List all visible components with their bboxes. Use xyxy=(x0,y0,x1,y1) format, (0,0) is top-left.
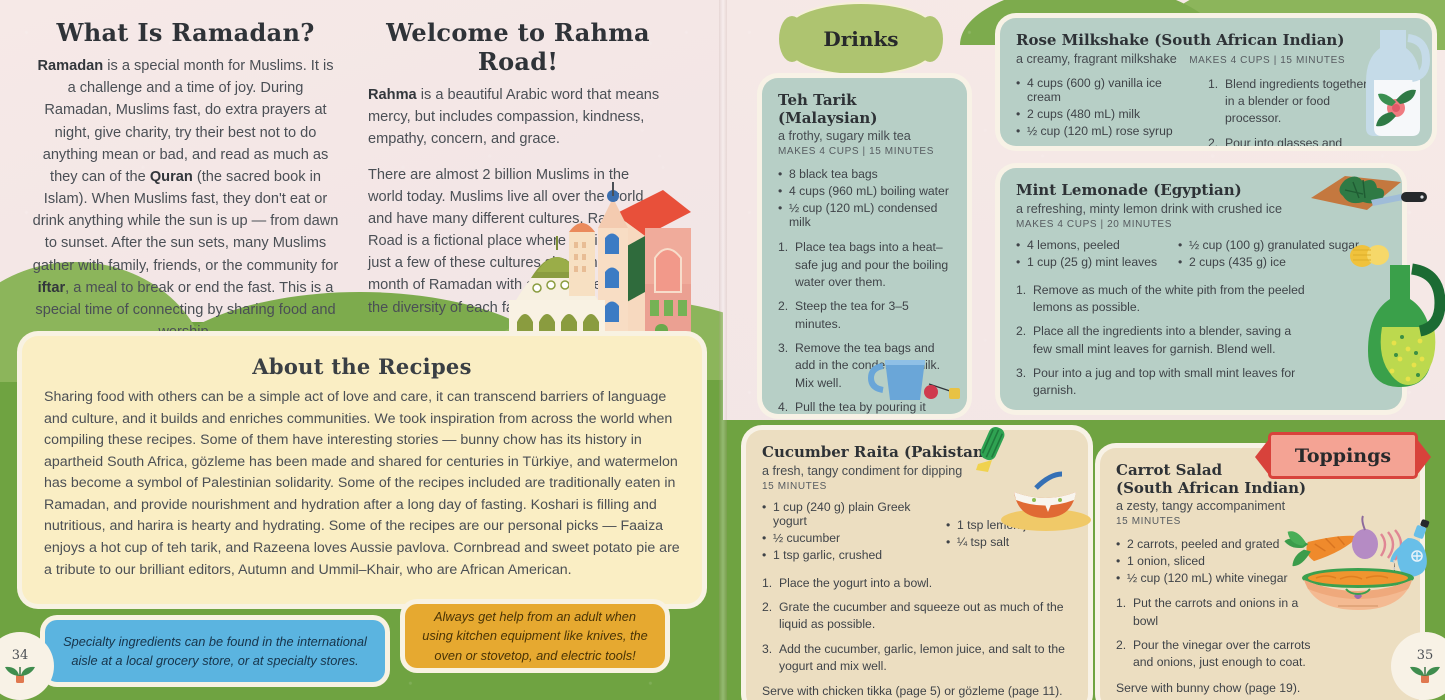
page-number-value: 34 xyxy=(12,648,29,663)
ingredient-item: ½ cucumber xyxy=(762,531,934,545)
ingredient-item: ½ cup (120 mL) rose syrup xyxy=(1016,124,1196,138)
page-number-value: 35 xyxy=(1417,648,1434,663)
recipe-title: Rose Milkshake (South African Indian) xyxy=(1016,32,1416,50)
sprout-icon xyxy=(3,663,37,685)
ingredient-list: 8 black tea bags 4 cups (960 mL) boiling… xyxy=(778,167,951,229)
step-item: Place the yogurt into a bowl. xyxy=(762,575,1072,592)
ingredient-list: 4 cups (600 g) vanilla ice cream 2 cups … xyxy=(1016,76,1196,146)
recipe-subtitle: a creamy, fragrant milkshake xyxy=(1016,52,1177,66)
recipe-serve-note: Serve with bunny chow (page 19). xyxy=(1116,680,1404,698)
column-what-is-ramadan: What Is Ramadan? Ramadan is a special mo… xyxy=(32,18,339,343)
left-page: What Is Ramadan? Ramadan is a special mo… xyxy=(0,0,723,700)
ingredient-list-left: 4 lemons, peeled 1 cup (25 g) mint leave… xyxy=(1016,238,1166,272)
step-item: Pour into a jug and top with small mint … xyxy=(1016,365,1308,400)
ingredient-item: 1 onion, sliced xyxy=(1116,554,1306,568)
recipe-card-mint-lemonade: Mint Lemonade (Egyptian) a refreshing, m… xyxy=(1000,168,1402,410)
recipe-subtitle: a fresh, tangy condiment for dipping xyxy=(762,464,1072,478)
recipe-meta: MAKES 4 CUPS | 20 MINUTES xyxy=(1016,219,1386,230)
tip-specialty-ingredients: Specialty ingredients can be found in th… xyxy=(45,620,385,682)
step-item: Steep the tea for 3–5 minutes. xyxy=(778,298,951,333)
step-item: Add the cucumber, garlic, lemon juice, a… xyxy=(762,641,1072,676)
recipe-title: Cucumber Raita (Pakistani) xyxy=(762,444,1072,462)
recipe-tip-note: TIP: Best served soon after making. If t… xyxy=(1016,408,1312,410)
step-item: Remove as much of the white pith from th… xyxy=(1016,282,1308,317)
ingredient-item: ½ cup (100 g) granulated sugar xyxy=(1178,238,1386,252)
heading-welcome-rahma-road: Welcome to Rahma Road! xyxy=(368,18,668,76)
book-gutter xyxy=(719,0,727,700)
section-banner-label: Drinks xyxy=(823,27,898,51)
recipe-subtitle: a frothy, sugary milk tea xyxy=(778,129,951,143)
paragraph-ramadan: Ramadan is a special month for Muslims. … xyxy=(32,55,339,343)
ingredient-item: 1 cup (240 g) plain Greek yogurt xyxy=(762,500,934,528)
section-banner-toppings: Toppings xyxy=(1268,432,1418,479)
recipe-serve-note: Serve with chicken tikka (page 5) or göz… xyxy=(762,683,1072,700)
ingredient-item: 1 cup (25 g) mint leaves xyxy=(1016,255,1166,269)
ingredient-list: 2 carrots, peeled and grated 1 onion, sl… xyxy=(1116,537,1306,585)
ingredient-list-right: ½ cup (100 g) granulated sugar 2 cups (4… xyxy=(1178,238,1386,272)
ingredient-item: 2 carrots, peeled and grated xyxy=(1116,537,1306,551)
paragraph-rahma-meaning: Rahma is a beautiful Arabic word that me… xyxy=(368,84,668,151)
ingredient-item: 4 lemons, peeled xyxy=(1016,238,1166,252)
cookbook-spread: What Is Ramadan? Ramadan is a special mo… xyxy=(0,0,1445,700)
ingredient-item: 1 tsp garlic, crushed xyxy=(762,548,934,562)
ingredient-item: ½ cup (120 mL) condensed milk xyxy=(778,201,951,229)
heading-about-the-recipes: About the Recipes xyxy=(44,354,680,379)
tip-adult-help: Always get help from an adult when using… xyxy=(405,604,665,668)
ingredient-item: ½ cup (120 mL) white vinegar xyxy=(1116,571,1306,585)
about-the-recipes-panel: About the Recipes Sharing food with othe… xyxy=(22,336,702,604)
recipe-card-rose-milkshake: Rose Milkshake (South African Indian) a … xyxy=(1000,18,1432,146)
step-list: Place tea bags into a heat–safe jug and … xyxy=(778,239,951,414)
recipe-subtitle: a zesty, tangy accompaniment xyxy=(1116,499,1404,513)
ingredient-list-right: 1 tsp lemon juice ¼ tsp salt xyxy=(946,518,1072,565)
recipe-meta: 15 MINUTES xyxy=(1116,516,1404,527)
section-banner-drinks: Drinks xyxy=(793,8,929,70)
ingredient-item: 2 cups (435 g) ice xyxy=(1178,255,1386,269)
section-banner-label: Toppings xyxy=(1295,445,1391,467)
step-item: Blend ingredients together in a blender … xyxy=(1208,76,1378,128)
recipe-title: Teh Tarik (Malaysian) xyxy=(778,92,951,127)
ingredient-item: 4 cups (600 g) vanilla ice cream xyxy=(1016,76,1196,104)
step-list: Put the carrots and onions in a bowl Pou… xyxy=(1116,595,1326,671)
step-item: Remove the tea bags and add in the conde… xyxy=(778,340,951,392)
ingredient-item: ¼ tsp salt xyxy=(946,535,1072,549)
step-item: Pour into glasses and serve. xyxy=(1208,135,1378,146)
recipe-meta: 15 MINUTES xyxy=(762,481,1072,492)
step-item: Pull the tea by pouring it from one jug … xyxy=(778,399,951,414)
recipe-title: Mint Lemonade (Egyptian) xyxy=(1016,182,1386,200)
recipe-card-teh-tarik: Teh Tarik (Malaysian) a frothy, sugary m… xyxy=(762,78,967,414)
tip-text: Specialty ingredients can be found in th… xyxy=(61,632,369,670)
step-item: Grate the cucumber and squeeze out as mu… xyxy=(762,599,1072,634)
step-item: Place all the ingredients into a blender… xyxy=(1016,323,1308,358)
recipe-meta: MAKES 4 CUPS | 15 MINUTES xyxy=(778,146,951,157)
step-list: Blend ingredients together in a blender … xyxy=(1208,76,1378,146)
ingredient-item: 4 cups (960 mL) boiling water xyxy=(778,184,951,198)
heading-what-is-ramadan: What Is Ramadan? xyxy=(32,18,339,47)
ingredient-item: 2 cups (480 mL) milk xyxy=(1016,107,1196,121)
step-list: Place the yogurt into a bowl. Grate the … xyxy=(762,575,1072,676)
ingredient-item: 8 black tea bags xyxy=(778,167,951,181)
ingredient-item: 1 tsp lemon juice xyxy=(946,518,1072,532)
about-the-recipes-text: Sharing food with others can be a simple… xyxy=(44,387,680,581)
recipe-subtitle: a refreshing, minty lemon drink with cru… xyxy=(1016,202,1386,216)
ingredient-list-left: 1 cup (240 g) plain Greek yogurt ½ cucum… xyxy=(762,500,934,565)
recipe-meta: MAKES 4 CUPS | 15 MINUTES xyxy=(1189,55,1345,66)
step-list: Remove as much of the white pith from th… xyxy=(1016,282,1308,400)
sprout-icon xyxy=(1408,663,1442,685)
step-item: Place tea bags into a heat–safe jug and … xyxy=(778,239,951,291)
recipe-card-carrot-salad: Carrot Salad(South African Indian) a zes… xyxy=(1100,448,1420,700)
recipe-card-cucumber-raita: Cucumber Raita (Pakistani) a fresh, tang… xyxy=(746,430,1088,700)
step-item: Pour the vinegar over the carrots and on… xyxy=(1116,637,1326,672)
step-item: Put the carrots and onions in a bowl xyxy=(1116,595,1326,630)
tip-text: Always get help from an adult when using… xyxy=(421,607,649,665)
